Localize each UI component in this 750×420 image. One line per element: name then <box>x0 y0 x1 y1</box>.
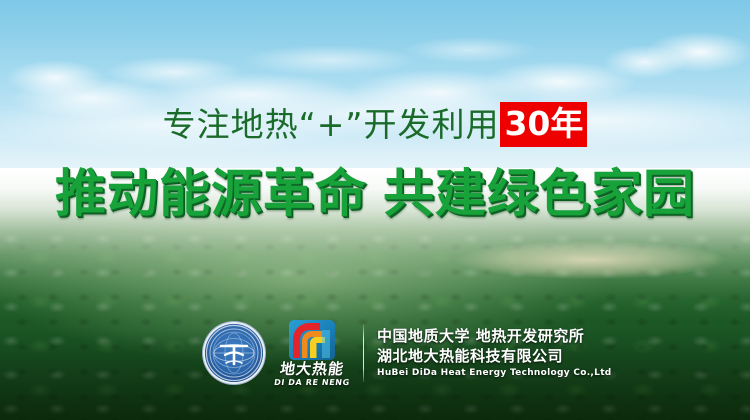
anniversary-badge: 30年 <box>500 102 587 147</box>
brand-name-cn: 地大热能 <box>279 362 345 377</box>
vertical-divider <box>363 324 364 382</box>
university-seal-icon <box>205 324 263 382</box>
org-company-name-en: HuBei DiDa Heat Energy Technology Co.,Lt… <box>377 369 612 379</box>
promo-banner: 专注地热“+”开发利用30年 推动能源革命共建绿色家园 <box>0 0 750 420</box>
org-institute-name: 中国地质大学 地热开发研究所 <box>377 327 612 346</box>
headline-part-2: 共建绿色家园 <box>383 169 695 220</box>
banner-subtitle: 专注地热“+”开发利用30年 <box>0 100 750 148</box>
banner-headline: 推动能源革命共建绿色家园 <box>0 163 750 225</box>
brand-name-en: DI DA RE NENG <box>274 379 351 387</box>
headline-part-1: 推动能源革命 <box>55 169 367 220</box>
organisation-block: 中国地质大学 地热开发研究所 湖北地大热能科技有限公司 HuBei DiDa H… <box>377 327 612 378</box>
logo-row: 地大热能 DI DA RE NENG 中国地质大学 地热开发研究所 湖北地大热能… <box>205 318 565 388</box>
rainbow-logo-icon <box>289 320 335 360</box>
org-company-name-cn: 湖北地大热能科技有限公司 <box>377 347 612 366</box>
subtitle-text: 专注地热“+”开发利用 <box>163 108 500 141</box>
dida-brand-lockup: 地大热能 DI DA RE NENG <box>273 320 351 387</box>
